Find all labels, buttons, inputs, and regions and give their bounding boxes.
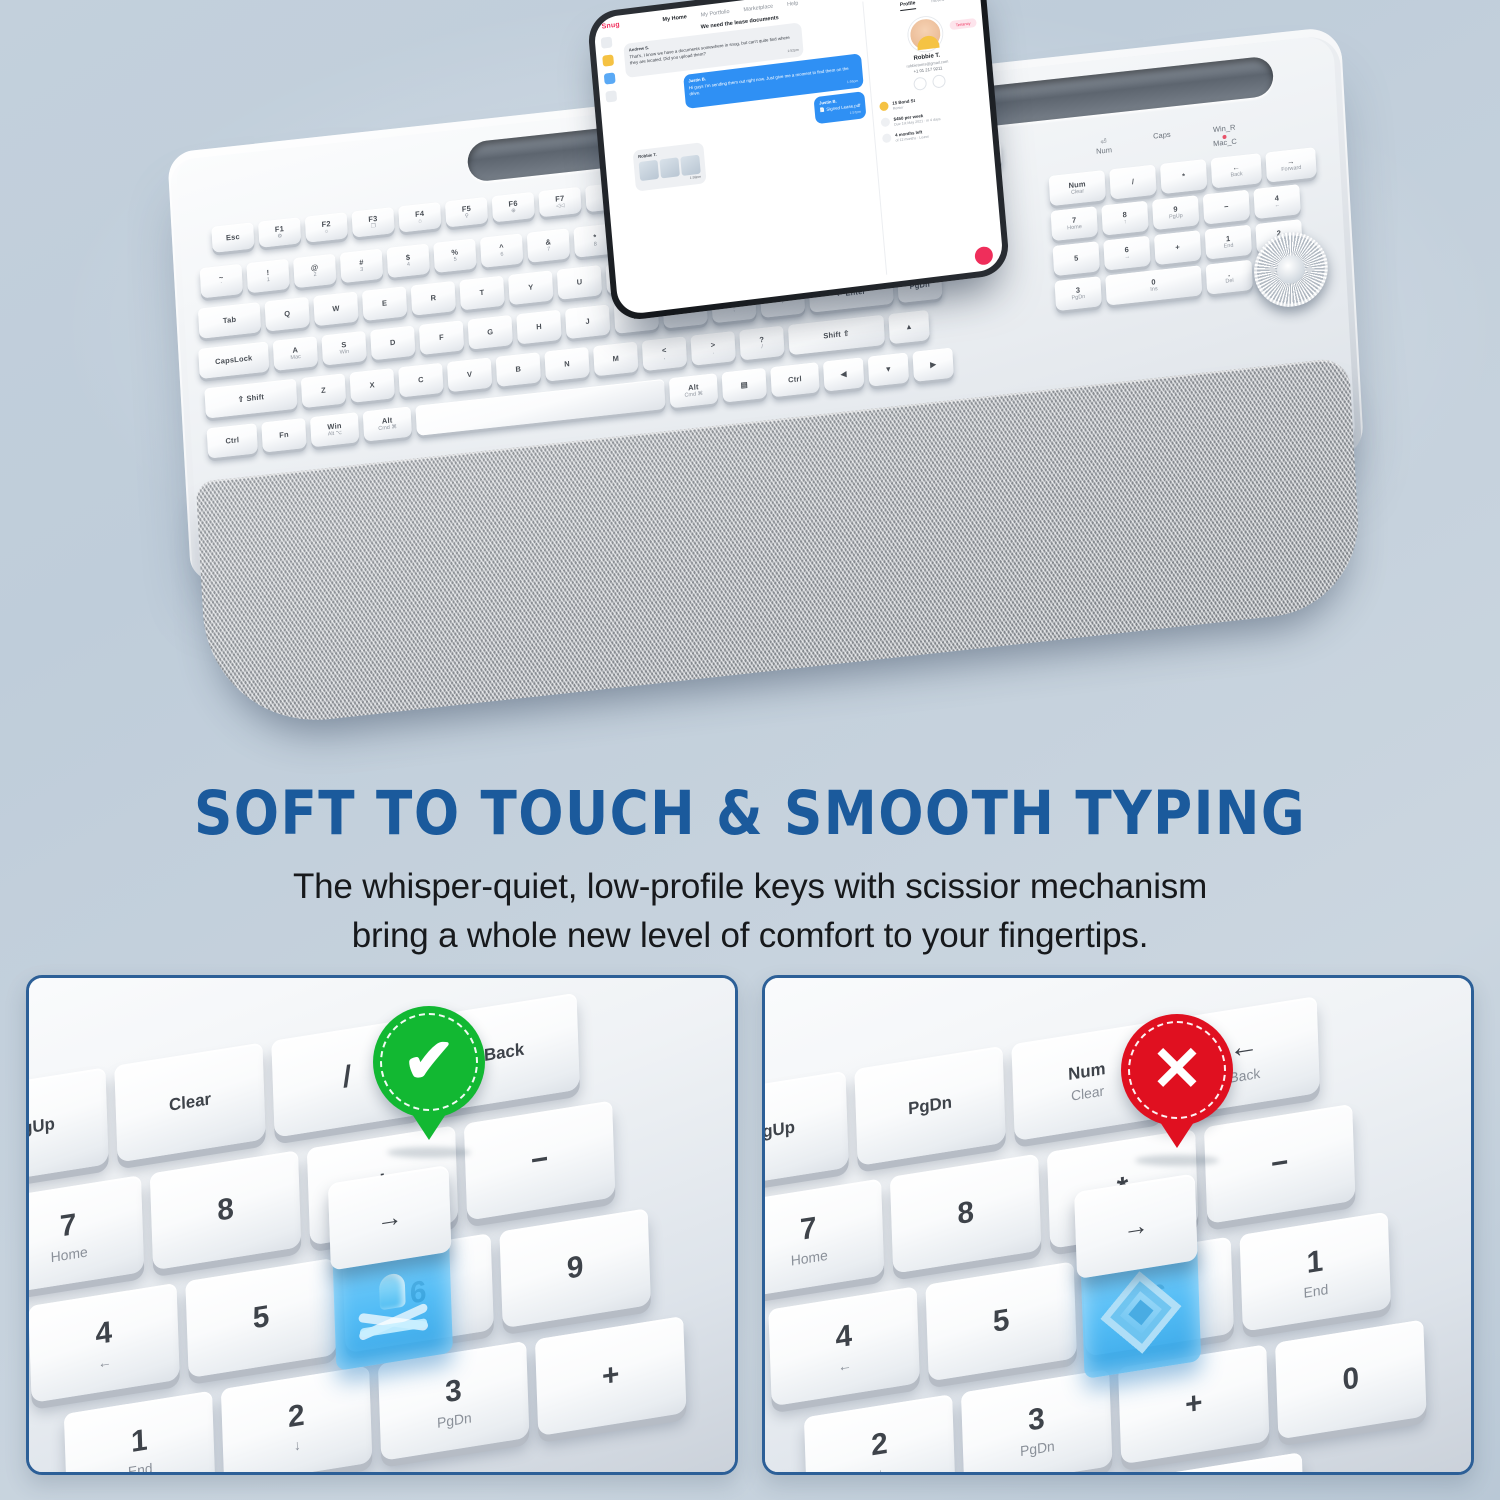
- key-sublabel: ;: [733, 307, 735, 313]
- key-sublabel: →: [1124, 254, 1130, 260]
- key-sublabel: ⌂: [418, 219, 422, 225]
- key-label: ▼: [884, 365, 892, 373]
- key-e[interactable]: E: [362, 286, 407, 321]
- key-label: 2: [287, 1398, 305, 1435]
- key-label: CapsLock: [215, 354, 253, 366]
- key-[interactable]: /: [1109, 165, 1156, 200]
- key-m[interactable]: M: [593, 342, 638, 377]
- key-[interactable]: &7: [527, 228, 570, 263]
- key-sublabel: Home: [791, 1246, 828, 1268]
- tab-notes[interactable]: Notes: [931, 0, 945, 7]
- key-label: 8: [1122, 211, 1127, 219]
- key-[interactable]: →Forward: [1265, 147, 1316, 182]
- key-[interactable]: +: [1154, 230, 1201, 265]
- key-label: G: [487, 328, 493, 336]
- key-sublabel: ←: [838, 1356, 852, 1374]
- badge-shadow: [1135, 1155, 1219, 1166]
- key-f5[interactable]: F5⚲: [445, 197, 488, 228]
- tenancy-tag: Tenancy: [949, 18, 976, 30]
- key-y[interactable]: Y: [508, 270, 553, 305]
- key-label: /: [342, 1060, 351, 1096]
- tab-profile[interactable]: Profile: [900, 0, 916, 11]
- key-label: 4: [1275, 194, 1280, 202]
- key-sublabel: Cmd ⌘: [378, 425, 397, 433]
- key-w[interactable]: W: [313, 292, 358, 327]
- key-label: F6: [508, 200, 518, 209]
- key-3[interactable]: 3PgDn: [1055, 276, 1102, 311]
- rail-avatar-2[interactable]: [603, 72, 615, 84]
- key-[interactable]: ▲: [888, 310, 929, 344]
- key-label: 4: [95, 1315, 113, 1352]
- key-sublabel: PgDn: [437, 1409, 472, 1431]
- key-[interactable]: .Del: [1206, 260, 1253, 295]
- key-f[interactable]: F: [419, 320, 464, 355]
- key-label: F2: [321, 220, 331, 229]
- message-icon[interactable]: [932, 74, 946, 89]
- key-label: Y: [528, 284, 534, 292]
- key-sublabel: End: [128, 1459, 153, 1475]
- key-sublabel: Alt ⌥: [328, 431, 343, 438]
- key-b[interactable]: B: [496, 352, 541, 387]
- nav-item-marketplace[interactable]: Marketplace: [743, 3, 773, 13]
- chat-message-attachment[interactable]: Justin B. 📄 Signed Lease.pdf 1:57pm: [814, 91, 867, 125]
- key-label: .: [1228, 270, 1231, 278]
- key-label: &: [545, 238, 551, 246]
- key-label: 0: [1342, 1361, 1360, 1398]
- key-q[interactable]: Q: [265, 297, 310, 332]
- key-[interactable]: ▤: [722, 368, 767, 403]
- page-title: SOFT TO TOUCH & SMOOTH TYPING: [23, 778, 1478, 849]
- key-label: @: [311, 263, 319, 271]
- key-7[interactable]: 7Home: [1051, 206, 1098, 241]
- key-label: 5: [1074, 255, 1079, 263]
- key-label: D: [390, 339, 396, 347]
- key-r[interactable]: R: [411, 281, 456, 316]
- key-label: 1: [130, 1423, 148, 1460]
- detail-sub: Renter: [893, 105, 904, 110]
- key-label: 6: [1124, 246, 1129, 254]
- key-label: 3: [1028, 1401, 1046, 1438]
- key-label: Ctrl: [788, 375, 802, 384]
- indicator-caps: Caps: [1153, 131, 1172, 155]
- key-label: Shift ⇧: [823, 330, 850, 340]
- key-label: F4: [415, 210, 425, 219]
- key-sublabel: Cmd ⌘: [684, 391, 703, 399]
- key-sublabel: PgDn: [1020, 1437, 1055, 1459]
- key-c[interactable]: C: [398, 363, 443, 398]
- key-sublabel: ↓: [294, 1436, 301, 1453]
- key-label: Z: [321, 387, 326, 395]
- key-f1[interactable]: F1⚙: [258, 217, 301, 248]
- key-s[interactable]: SWin: [321, 331, 366, 366]
- key-[interactable]: >.: [691, 331, 736, 366]
- key-[interactable]: !1: [246, 259, 289, 294]
- key-label: X: [369, 381, 375, 389]
- key-label: F1: [275, 225, 285, 234]
- key-label: −: [1224, 203, 1229, 211]
- key-sublabel: PgDn: [1071, 294, 1085, 301]
- key-[interactable]: ▼: [868, 352, 909, 386]
- key-d[interactable]: D: [370, 326, 415, 361]
- key-[interactable]: %5: [433, 238, 476, 273]
- key-[interactable]: $4: [387, 244, 430, 279]
- key-fn[interactable]: Fn: [261, 418, 306, 453]
- contact-actions: [913, 74, 946, 91]
- key-label: C: [418, 376, 424, 384]
- numpad-closeup-bad: PgUpPgDnNumClear←Back 7Home8*− 4←561End …: [762, 975, 1474, 1475]
- calendar-icon: [882, 133, 892, 143]
- numpad-row: InsEnter: [99, 1474, 408, 1475]
- key-sublabel: Del: [1225, 278, 1234, 285]
- key-sublabel: 4: [407, 262, 410, 268]
- key-label: ~: [219, 274, 224, 282]
- key-label: 7: [1072, 216, 1077, 224]
- key-[interactable]: ▶: [912, 348, 953, 382]
- key-t[interactable]: T: [459, 276, 504, 311]
- key-sublabel: ⚙: [277, 234, 282, 240]
- key-label: W: [332, 305, 340, 313]
- key-[interactable]: *: [1160, 159, 1207, 194]
- key-label: +: [1185, 1386, 1204, 1423]
- key-label: *: [593, 233, 597, 241]
- key-sublabel: End: [1303, 1280, 1328, 1300]
- key-sublabel: Home: [1067, 224, 1082, 231]
- key-label: Back: [484, 1040, 525, 1066]
- key-label: Clear: [169, 1089, 212, 1116]
- key-1[interactable]: 1End: [1205, 225, 1252, 260]
- key-sublabel: 7: [547, 247, 550, 253]
- profile-tabs: Profile Notes: [900, 0, 945, 11]
- key-label: R: [430, 294, 436, 302]
- key-sublabel: ↓: [877, 1464, 884, 1475]
- key-label: 5: [992, 1303, 1010, 1340]
- property-icon: [879, 101, 889, 111]
- key-label: 7: [59, 1207, 77, 1244]
- key-label: 0: [1151, 278, 1156, 286]
- key-ctrl[interactable]: Ctrl: [207, 423, 258, 458]
- key-x[interactable]: X: [350, 368, 395, 403]
- key-label: 3: [1076, 286, 1081, 294]
- phone-app-body: We need the lease documents Andrew S. Th…: [594, 0, 1003, 308]
- red-cross-badge: ✕: [1121, 1014, 1233, 1126]
- key-j[interactable]: J: [565, 304, 610, 339]
- key-label: PgDn: [908, 1092, 953, 1119]
- key-sublabel: 5: [454, 257, 457, 263]
- key-h[interactable]: H: [516, 310, 561, 345]
- key-num[interactable]: NumClear: [1049, 170, 1106, 206]
- indicator-pairing: Win_R Mac_C: [1212, 124, 1237, 149]
- key-label: %: [451, 248, 458, 256]
- key-label: 9: [1173, 205, 1178, 213]
- key-label: $: [406, 253, 411, 261]
- key-sublabel: `: [221, 283, 223, 289]
- key-label: ←: [1228, 1027, 1259, 1066]
- key-[interactable]: <,: [642, 336, 687, 371]
- key-label: 8: [957, 1195, 975, 1232]
- key-label: ^: [499, 243, 504, 251]
- comparison-panel-membrane-switch: PgUpPgDnNumClear←Back 7Home8*− 4←561End …: [762, 975, 1474, 1475]
- smartphone-on-cradle: Snug My Home My Portfolio Marketplace He…: [586, 0, 1010, 322]
- key-sublabel: 6: [500, 252, 503, 258]
- key-ctrl[interactable]: Ctrl: [770, 362, 819, 397]
- key-label: ▲: [905, 323, 913, 331]
- key-label: Esc: [226, 233, 240, 242]
- key-[interactable]: ←Back: [1211, 153, 1262, 188]
- green-check-badge: ✔: [373, 1006, 485, 1118]
- key-label: ◀: [841, 370, 847, 378]
- key-sublabel: /: [761, 345, 763, 351]
- key-sublabel: Win: [340, 349, 350, 356]
- key-label: 7: [799, 1211, 817, 1248]
- key-[interactable]: ~`: [200, 264, 243, 299]
- numpad-key-enter[interactable]: Enter: [256, 1474, 408, 1475]
- key-sublabel: ⚲: [465, 214, 469, 220]
- compose-fab-button[interactable]: [974, 246, 993, 266]
- key-[interactable]: −: [1203, 190, 1250, 225]
- key-sublabel: .: [713, 350, 715, 356]
- key-sublabel: Home: [50, 1243, 87, 1265]
- key-sublabel: 1: [267, 277, 270, 283]
- key-a[interactable]: AMac: [273, 336, 318, 371]
- key-label: Ctrl: [225, 436, 239, 445]
- key-sublabel: Forward: [1281, 165, 1301, 173]
- key-sublabel: PgUp: [1169, 213, 1183, 220]
- key-label: ▶: [930, 361, 936, 369]
- key-sublabel: ,: [664, 355, 666, 361]
- key-label: S: [341, 341, 347, 349]
- key-label: M: [612, 355, 619, 363]
- key-label: <: [662, 346, 667, 354]
- key-sublabel: End: [1224, 243, 1234, 250]
- key-label: −: [1270, 1145, 1289, 1182]
- key-esc[interactable]: Esc: [211, 222, 254, 253]
- key-z[interactable]: Z: [301, 373, 346, 408]
- rail-avatar-3[interactable]: [605, 90, 617, 102]
- key-6[interactable]: 6→: [1103, 236, 1150, 271]
- key-sublabel: ←: [1274, 203, 1280, 209]
- key-label: 5: [252, 1300, 270, 1337]
- rent-icon: [881, 117, 891, 127]
- subtitle-line-1: The whisper-quiet, low-profile keys with…: [0, 862, 1500, 911]
- key-f2[interactable]: F2☼: [305, 212, 348, 243]
- nav-item-my-home[interactable]: My Home: [662, 14, 687, 23]
- key-label: Fn: [279, 431, 289, 440]
- key-f3[interactable]: F3❐: [352, 207, 395, 238]
- badge-pin: ✔: [373, 1006, 485, 1118]
- key-sublabel: 3: [360, 267, 363, 273]
- key-label: 1: [1226, 235, 1231, 243]
- contact-avatar: [907, 15, 944, 53]
- key-label: 1: [1306, 1244, 1324, 1281]
- key-label: >: [711, 341, 716, 349]
- key-label: F: [439, 334, 444, 342]
- key-4[interactable]: 4←: [1253, 184, 1300, 219]
- key-sublabel: ◁◁: [556, 203, 565, 210]
- cross-icon: ✕: [1151, 1039, 1203, 1101]
- key-[interactable]: ◀: [823, 357, 864, 391]
- key-sublabel: Back: [1229, 1064, 1260, 1085]
- key-label: 9: [566, 1250, 584, 1287]
- key-sublabel: ←: [98, 1352, 112, 1370]
- key-sublabel: ☼: [324, 229, 329, 235]
- key-[interactable]: ?/: [739, 326, 784, 361]
- key-label: +: [601, 1358, 620, 1395]
- key-label: PgUp: [762, 1117, 795, 1144]
- key-[interactable]: ^6: [480, 233, 523, 268]
- key-sublabel: ⊕: [511, 208, 516, 214]
- rail-avatar-1[interactable]: [602, 54, 614, 66]
- key-label: 4: [835, 1318, 853, 1355]
- key-label: 8: [217, 1192, 235, 1229]
- key-label: H: [536, 323, 542, 331]
- key-sublabel: 8: [594, 242, 597, 248]
- key-g[interactable]: G: [468, 315, 513, 350]
- contact-profile-panel: Profile Notes Tenancy Robbie T. robbieto…: [862, 0, 1003, 275]
- nav-item-help[interactable]: Help: [787, 0, 799, 7]
- key-label: F3: [368, 215, 378, 224]
- rail-icon-back[interactable]: [600, 37, 612, 49]
- key-sublabel: Clear: [1071, 189, 1084, 196]
- key-[interactable]: @2: [293, 254, 336, 289]
- key-sublabel: 2: [313, 272, 316, 278]
- chat-message-images: Robbie T. 1:59pm: [633, 142, 707, 192]
- key-sublabel: ↑: [1124, 220, 1127, 226]
- detail-title: 15 Bond St: [892, 98, 915, 106]
- key-label: A: [292, 346, 298, 354]
- key-label: ⇧ Shift: [238, 393, 265, 403]
- key-f4[interactable]: F4⌂: [398, 202, 441, 233]
- key-label: /: [1132, 178, 1135, 186]
- key-sublabel: Back: [1230, 172, 1242, 179]
- key-u[interactable]: U: [557, 265, 602, 300]
- key-sublabel: Ins: [1150, 287, 1158, 293]
- key-label: 3: [445, 1373, 463, 1410]
- phone-screen[interactable]: Snug My Home My Portfolio Marketplace He…: [593, 0, 1004, 316]
- key-label: #: [359, 259, 364, 267]
- key-label: T: [479, 289, 484, 297]
- key-label: B: [515, 365, 521, 373]
- switch-stem: [379, 1273, 406, 1311]
- key-label: N: [564, 360, 570, 368]
- call-icon[interactable]: [913, 77, 927, 92]
- key-label: 2: [871, 1426, 889, 1463]
- chat-thread: We need the lease documents Andrew S. Th…: [616, 2, 886, 305]
- indicator-num: ⏎Num: [1095, 137, 1112, 161]
- key-label: V: [467, 371, 473, 379]
- key-sublabel: ': [782, 302, 783, 308]
- subtitle-line-2: bring a whole new level of comfort to yo…: [0, 911, 1500, 960]
- key-label: PgUp: [26, 1114, 55, 1141]
- key-sublabel: ❐: [371, 224, 376, 230]
- key-alt[interactable]: AltCmd ⌘: [669, 373, 718, 408]
- key-sublabel: Clear: [1071, 1082, 1105, 1103]
- key-sublabel: Mac: [290, 355, 301, 362]
- nav-item-my-portfolio[interactable]: My Portfolio: [700, 8, 729, 18]
- key-label: −: [530, 1142, 549, 1179]
- hero-product-photo: EscF1⚙F2☼F3❐F4⌂F5⚲F6⊕F7◁◁F8▷‖F9▷▷F10✕ᵠF1…: [0, 0, 1500, 775]
- key-[interactable]: #3: [340, 249, 383, 284]
- key-label: *: [1182, 173, 1186, 181]
- key-label: Num: [1068, 1058, 1106, 1084]
- badge-shadow: [387, 1147, 471, 1158]
- key-5[interactable]: 5: [1053, 241, 1100, 276]
- badge-pin: ✕: [1121, 1014, 1233, 1126]
- tenancy-details-list: 15 Bond St Renter $450 per week Due 1st …: [879, 90, 985, 145]
- key-n[interactable]: N: [544, 347, 589, 382]
- scissor-mechanism-detail: [356, 1265, 429, 1339]
- key-label: Q: [284, 310, 290, 318]
- phone-shell: Snug My Home My Portfolio Marketplace He…: [586, 0, 1010, 322]
- key-alt[interactable]: AltCmd ⌘: [363, 406, 412, 441]
- check-icon: ✔: [403, 1031, 455, 1093]
- key-label: U: [577, 278, 583, 286]
- key-label: !: [266, 269, 269, 277]
- key-win[interactable]: WinAlt ⌥: [310, 412, 359, 447]
- key-8[interactable]: 8↑: [1101, 201, 1148, 236]
- key-label: Tab: [223, 316, 237, 325]
- comparison-panel-scissor-switch: PgUpClear/Back 7Home8*− 4←569 1End2↓3PgD…: [26, 975, 738, 1475]
- key-label: ?: [759, 336, 764, 344]
- key-f7[interactable]: F7◁◁: [538, 187, 581, 218]
- key-f6[interactable]: F6⊕: [492, 192, 535, 223]
- key-label: F5: [462, 205, 472, 214]
- key-9[interactable]: 9PgUp: [1152, 195, 1199, 230]
- dome-mechanism-detail: [1100, 1271, 1181, 1354]
- key-label: ▤: [740, 381, 748, 389]
- key-label: +: [1175, 244, 1180, 252]
- key-label: E: [382, 300, 388, 308]
- key-v[interactable]: V: [447, 357, 492, 392]
- key-label: J: [585, 318, 590, 326]
- app-logo: Snug: [601, 21, 620, 30]
- page-subtitle: The whisper-quiet, low-profile keys with…: [0, 862, 1500, 960]
